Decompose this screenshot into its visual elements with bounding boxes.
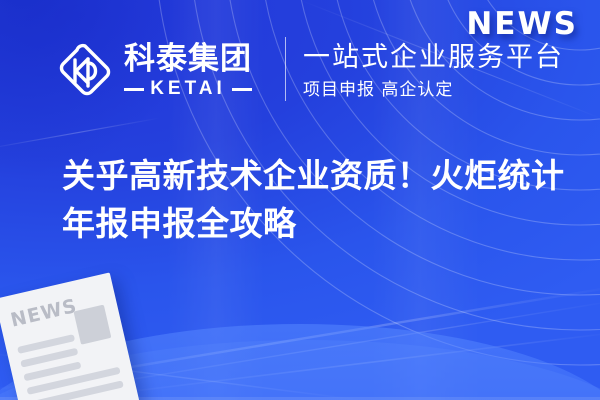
wordmark-rule-right: [232, 88, 252, 91]
page-title-line-2: 年报申报全攻略: [62, 200, 562, 248]
brand-logo-wordmark: 科泰集团 KETAI: [124, 43, 252, 99]
news-banner: 科泰集团 KETAI 一站式企业服务平台 项目申报 高企认定 NEWS 关乎高新…: [0, 0, 600, 400]
tagline-main: 一站式企业服务平台: [303, 42, 564, 74]
news-badge: NEWS: [466, 6, 578, 42]
page-title: 关乎高新技术企业资质！火炬统计 年报申报全攻略: [62, 152, 562, 248]
banner-header: 科泰集团 KETAI 一站式企业服务平台 项目申报 高企认定 NEWS: [0, 0, 600, 126]
brand-name-cn: 科泰集团: [124, 43, 252, 76]
brand-logo[interactable]: 科泰集团 KETAI: [58, 42, 252, 100]
wordmark-rule-left: [124, 88, 144, 91]
brand-name-en: KETAI: [150, 79, 226, 99]
header-divider: [285, 37, 286, 101]
header-tagline: 一站式企业服务平台 项目申报 高企认定: [303, 42, 564, 102]
ketai-kd-monogram-icon: [58, 42, 112, 100]
tagline-sub: 项目申报 高企认定: [303, 78, 564, 102]
brand-name-en-row: KETAI: [124, 79, 252, 99]
page-title-line-1: 关乎高新技术企业资质！火炬统计: [62, 152, 562, 200]
